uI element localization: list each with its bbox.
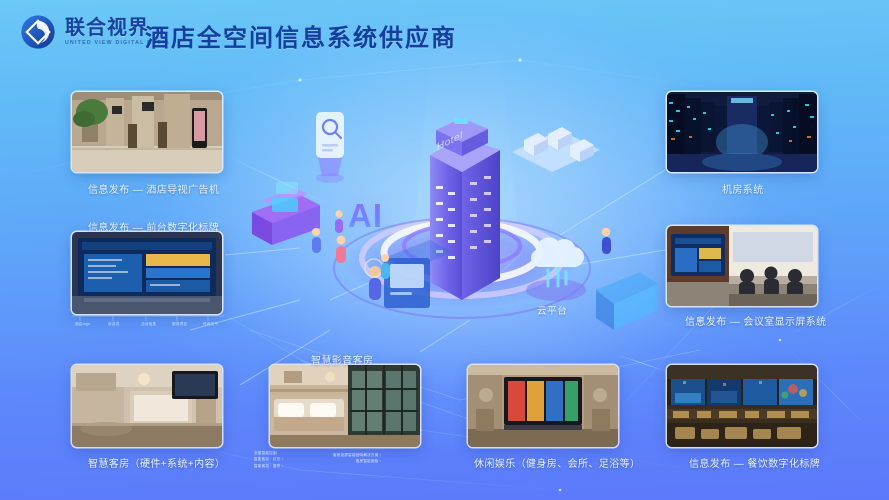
- caption-server-room: 机房系统: [722, 181, 764, 196]
- photo-server-room: [667, 92, 817, 172]
- micro-av-room: 客房投屏智能音响解决方案 ↑ 客房智能面板 ↑: [333, 452, 382, 465]
- cloud-platform-icon: [526, 237, 586, 301]
- caption-hallway-signage: 信息发布 — 酒店导视广告机: [88, 181, 219, 196]
- tv-wall-illustration: [596, 272, 658, 330]
- micro-front-desk-ticks: [72, 315, 224, 323]
- caption-meeting-room: 信息发布 — 会议室显示屏系统: [685, 313, 827, 328]
- mobile-kiosk-illustration: [316, 112, 344, 183]
- reception-counter-illustration: [252, 182, 320, 245]
- micro-smart-room-1: 智能客控 · 灯光 ↑: [254, 456, 284, 462]
- micro-av-room-1: 客房智能面板 ↑: [333, 458, 382, 464]
- photo-dining-signage: [667, 365, 817, 447]
- caption-leisure: 休闲娱乐（健身房、会所、足浴等）: [474, 455, 640, 470]
- hotel-tower-label: Hotel: [437, 130, 463, 154]
- caption-front-desk-signage: 信息发布 — 前台数字化标牌: [88, 219, 219, 234]
- server-rack-illustration: [512, 127, 600, 172]
- caption-smart-guestroom: 智慧客房（硬件+系统+内容）: [88, 455, 225, 470]
- clock-icon: [366, 261, 384, 279]
- photo-front-desk-signage: [72, 232, 222, 314]
- united-view-swirl-logo-icon: [20, 14, 56, 50]
- page-header: 联合视界 UNITED VIEW DIGITAL MEDIA 酒店全空间信息系统…: [0, 0, 889, 62]
- ai-label: AI: [348, 197, 383, 235]
- photo-meeting-room: [667, 226, 817, 306]
- page-title: 酒店全空间信息系统供应商: [145, 18, 457, 53]
- photo-av-guestroom: [270, 365, 420, 447]
- photo-hallway-signage: [72, 92, 222, 172]
- photo-smart-guestroom: [72, 365, 222, 447]
- display-panel-illustration: [365, 240, 452, 308]
- caption-dining-signage: 信息发布 — 餐饮数字化标牌: [689, 455, 820, 470]
- photo-leisure: [468, 365, 618, 447]
- micro-smart-room: 全屋智能控制 智能客控 · 灯光 ↑ 智能客控 · 窗帘 ↑: [254, 450, 284, 469]
- caption-av-guestroom: 智慧影音客房: [311, 352, 373, 367]
- cloud-platform-label: 云平台: [537, 303, 567, 317]
- micro-smart-room-2: 智能客控 · 窗帘 ↑: [254, 463, 284, 469]
- poster-canvas: 联合视界 UNITED VIEW DIGITAL MEDIA 酒店全空间信息系统…: [0, 0, 889, 500]
